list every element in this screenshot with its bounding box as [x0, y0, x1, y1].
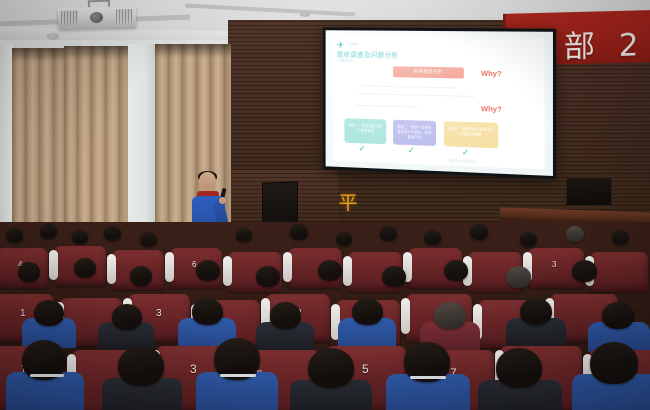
- slide-faint-text-line: [358, 93, 475, 97]
- audience-head: [572, 260, 597, 282]
- audience-head: [72, 230, 88, 244]
- audience-head: [118, 346, 164, 386]
- audience-head: [380, 226, 397, 241]
- audience-head: [318, 260, 342, 281]
- window-curtain: [12, 48, 64, 246]
- window-curtain: [64, 46, 128, 246]
- audience-head: [34, 300, 64, 326]
- logo-label: LOGO: [348, 42, 358, 46]
- ceiling-beam: [185, 4, 355, 17]
- audience-head: [434, 302, 466, 329]
- ceiling-projector-icon: [58, 6, 137, 29]
- audience-head: [256, 266, 280, 287]
- audience-head: [18, 262, 40, 282]
- audience-head: [520, 298, 552, 325]
- wall-character-sign: 平: [338, 192, 358, 214]
- audience-head: [270, 302, 301, 329]
- seat-number: 1: [20, 308, 26, 319]
- screen-surface: ✈ LOGO 现状调查及问题分析 问题描述： 根本原因分析 Why? Why? …: [326, 30, 553, 176]
- slide-why-label-2: Why?: [481, 104, 502, 114]
- audience-head: [40, 224, 57, 239]
- ceiling-vent: [47, 33, 59, 40]
- check-icon: ✓: [408, 146, 415, 156]
- audience-head: [506, 266, 531, 288]
- audience-head: [424, 230, 441, 245]
- presenter-hand: [219, 197, 226, 204]
- slide-why-label-1: Why?: [481, 69, 502, 78]
- projection-screen: ✈ LOGO 现状调查及问题分析 问题描述： 根本原因分析 Why? Why? …: [323, 27, 556, 179]
- check-icon: ✓: [462, 148, 470, 158]
- seat-number: 5: [362, 362, 369, 376]
- audience-head: [6, 228, 23, 243]
- audience-head: [444, 260, 468, 281]
- wall-pillar: [128, 44, 156, 244]
- wall-display-panel: [566, 178, 612, 206]
- audience-head: [130, 266, 152, 286]
- slide-cause-box: 原因一：作业流程中缺少 有效核查: [344, 118, 386, 144]
- audience-head: [192, 298, 223, 325]
- audience-head: [382, 266, 406, 287]
- slide-logo: ✈ LOGO: [337, 40, 369, 49]
- audience-head: [352, 298, 383, 325]
- slide-faint-text-line: [361, 85, 454, 88]
- shirt-collar: [220, 374, 256, 377]
- slide-subtitle: 问题描述：: [338, 59, 357, 64]
- audience-head: [590, 342, 638, 384]
- audience-head: [290, 224, 308, 240]
- audience-head: [308, 348, 354, 388]
- shirt-collar: [410, 376, 446, 379]
- conference-hall-photo: 业 部 2 0 ✈ LOGO 现状调查及问题分析 问题描述： 根本原因分析 Wh…: [0, 0, 650, 410]
- audience-head: [612, 230, 629, 245]
- audience-head: [140, 232, 157, 247]
- ceiling-vent: [300, 12, 310, 17]
- slide-cause-box: 原因二：现场人员操作 规范执行不到位，培训 覆盖不足: [393, 120, 436, 146]
- audience-head: [74, 258, 96, 278]
- audience-head: [470, 224, 488, 240]
- projector-lens: [90, 12, 103, 23]
- audience-head: [112, 304, 142, 330]
- audience-head: [602, 302, 634, 329]
- slide-faint-text-line: [356, 105, 420, 108]
- audience-head: [236, 228, 252, 242]
- shirt-collar: [30, 374, 64, 377]
- seat-number: 3: [190, 362, 197, 376]
- slide-cause-box: 原因三：设备点检记录与 实际状态存在偏差: [444, 121, 498, 148]
- projector-vent: [116, 9, 133, 23]
- seat-number: 3: [552, 260, 556, 269]
- theater-seat[interactable]: [590, 252, 648, 292]
- audience-head: [104, 226, 121, 241]
- slide-pill-label: 根本原因分析: [393, 66, 464, 78]
- audience-head: [496, 348, 542, 388]
- slide-footer-text: 措施落实与效果验证: [449, 159, 479, 164]
- presentation-slide: ✈ LOGO 现状调查及问题分析 问题描述： 根本原因分析 Why? Why? …: [333, 36, 545, 169]
- audience-head: [520, 232, 537, 247]
- audience-head: [566, 226, 584, 242]
- seat-number: 3: [156, 308, 162, 319]
- projector-vent: [61, 10, 78, 24]
- audience-head: [196, 260, 220, 281]
- audience-head: [336, 232, 352, 246]
- check-icon: ✓: [359, 144, 366, 154]
- audience-seating-area: 4 6 3 1 3: [0, 222, 650, 410]
